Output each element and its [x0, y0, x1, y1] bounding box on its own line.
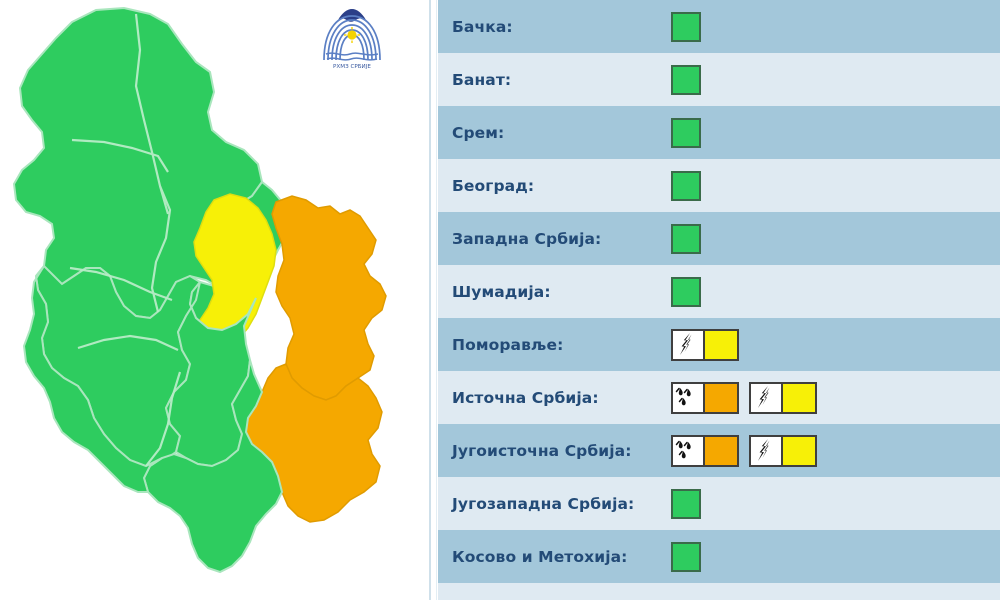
panel-divider	[429, 0, 431, 600]
map-panel: РХМЗ СРБИЈЕ	[0, 0, 426, 600]
warning-icon-group	[671, 277, 701, 307]
warning-icon-group	[671, 489, 701, 519]
severity-swatch-orange	[705, 384, 737, 412]
table-row[interactable]: Срем:	[438, 106, 1000, 159]
table-row[interactable]: Поморавље:	[438, 318, 1000, 371]
table-row[interactable]: Шумадија:	[438, 265, 1000, 318]
warning-table: Бачка:Банат:Срем:Београд:Западна Србија:…	[438, 0, 1000, 600]
severity-swatch-orange	[705, 437, 737, 465]
region-label: Банат:	[452, 71, 511, 89]
green-square-no-warning-icon[interactable]	[671, 277, 701, 307]
green-square-no-warning-icon[interactable]	[671, 542, 701, 572]
region-label: Београд:	[452, 177, 534, 195]
region-label: Југоисточна Србија:	[452, 442, 632, 460]
region-label: Југозападна Србија:	[452, 495, 634, 513]
green-square-no-warning-icon[interactable]	[671, 489, 701, 519]
green-square-no-warning-icon[interactable]	[671, 118, 701, 148]
table-tail-strip	[438, 583, 1000, 600]
map-region-zapadna-srbija[interactable]	[36, 266, 200, 466]
lightning-bolt-warning-icon[interactable]	[749, 435, 817, 467]
region-label: Косово и Метохија:	[452, 548, 627, 566]
region-label: Источна Србија:	[452, 389, 599, 407]
green-square-no-warning-icon[interactable]	[671, 12, 701, 42]
lightning-bolt-glyph	[673, 331, 705, 359]
warning-icon-group	[671, 118, 701, 148]
warning-icon-group	[671, 12, 701, 42]
table-row[interactable]: Југозападна Србија:	[438, 477, 1000, 530]
logo-wordmark: РХМЗ СРБИЈЕ	[333, 64, 371, 70]
table-row[interactable]: Косово и Метохија:	[438, 530, 1000, 583]
table-row[interactable]: Банат:	[438, 53, 1000, 106]
warning-icon-group	[671, 329, 739, 361]
warning-icon-group	[671, 224, 701, 254]
warning-icon-group	[671, 382, 817, 414]
warning-page: РХМЗ СРБИЈЕ Бачка:Банат:Срем:Београд:Зап…	[0, 0, 1000, 600]
region-label: Западна Србија:	[452, 230, 601, 248]
table-row[interactable]: Бачка:	[438, 0, 1000, 53]
region-label: Шумадија:	[452, 283, 551, 301]
rain-drops-warning-icon[interactable]	[671, 382, 739, 414]
panel-divider-soft	[436, 0, 437, 600]
table-row[interactable]: Југоисточна Србија:	[438, 424, 1000, 477]
region-label: Поморавље:	[452, 336, 563, 354]
green-square-no-warning-icon[interactable]	[671, 224, 701, 254]
severity-swatch-yellow	[783, 437, 815, 465]
rain-drops-glyph	[673, 437, 705, 465]
warning-icon-group	[671, 435, 817, 467]
warning-icon-group	[671, 65, 701, 95]
green-square-no-warning-icon[interactable]	[671, 171, 701, 201]
green-square-no-warning-icon[interactable]	[671, 65, 701, 95]
warning-icon-group	[671, 171, 701, 201]
table-row[interactable]: Западна Србија:	[438, 212, 1000, 265]
table-row[interactable]: Источна Србија:	[438, 371, 1000, 424]
serbia-warning-map[interactable]	[0, 0, 426, 600]
severity-swatch-yellow	[705, 331, 737, 359]
table-row[interactable]: Београд:	[438, 159, 1000, 212]
severity-swatch-yellow	[783, 384, 815, 412]
lightning-bolt-glyph	[751, 437, 783, 465]
lightning-bolt-warning-icon[interactable]	[671, 329, 739, 361]
region-label: Срем:	[452, 124, 504, 142]
rain-drops-glyph	[673, 384, 705, 412]
rain-drops-warning-icon[interactable]	[671, 435, 739, 467]
rhmz-logo: РХМЗ СРБИЈЕ	[318, 4, 386, 70]
lightning-bolt-glyph	[751, 384, 783, 412]
warning-icon-group	[671, 542, 701, 572]
lightning-bolt-warning-icon[interactable]	[749, 382, 817, 414]
region-label: Бачка:	[452, 18, 513, 36]
